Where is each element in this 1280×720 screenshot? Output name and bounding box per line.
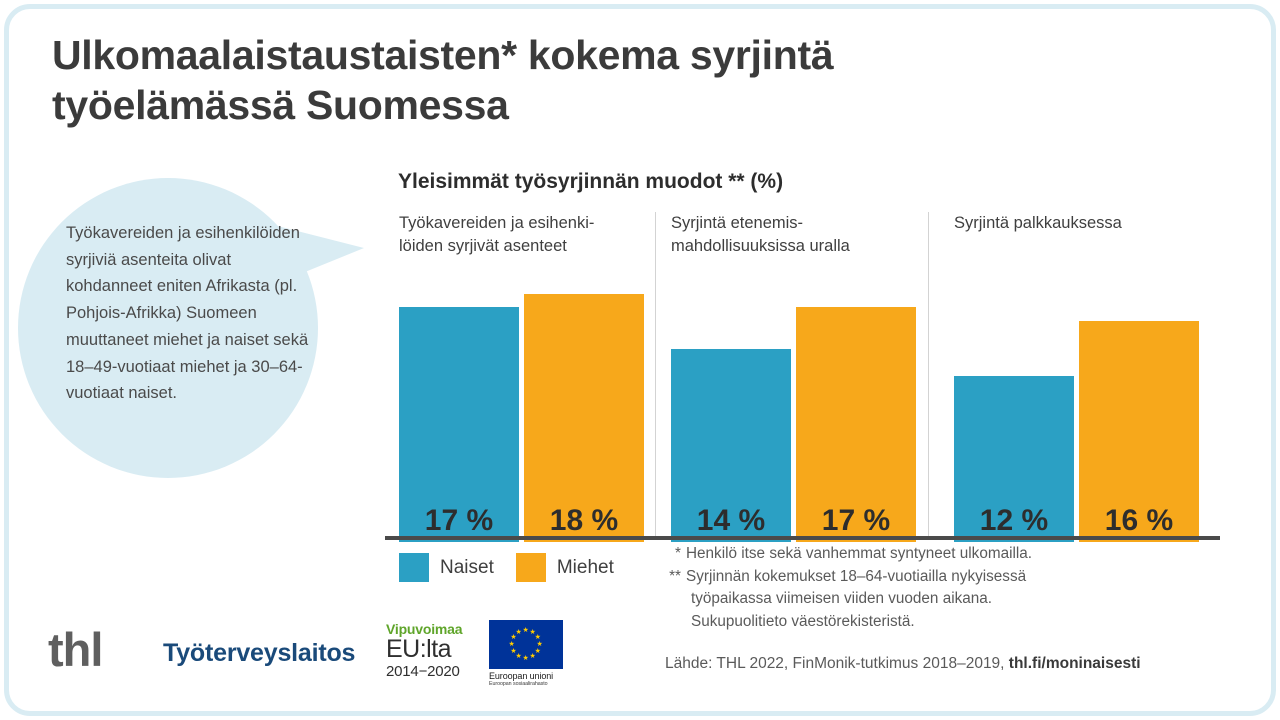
eu-flag-logo: ★★★★★★★★★★★★ Euroopan unioni Euroopan so…	[489, 620, 563, 687]
callout-bubble-text: Työkavereiden ja esihenkilöiden syrjiviä…	[66, 220, 314, 407]
footnote-text-2-cont-2: Sukupuolitieto väestörekisteristä.	[662, 611, 1222, 634]
legend-label-miehet: Miehet	[557, 557, 614, 579]
footnote-mark-2: **	[662, 566, 686, 589]
vipuvoimaa-eulta-logo: Vipuvoimaa EU:lta 2014−2020	[386, 622, 462, 679]
footnote-single-asterisk: * Henkilö itse sekä vanhemmat syntyneet …	[662, 543, 1222, 566]
page-title-line-2: työelämässä Suomessa	[52, 80, 1052, 130]
group-separator-2	[928, 212, 929, 537]
eu-flag-caption-primary: Euroopan unioni	[489, 671, 563, 681]
legend-label-naiset: Naiset	[440, 557, 494, 579]
eu-star-icon: ★	[523, 655, 529, 662]
legend-item-naiset: Naiset	[399, 553, 494, 582]
page-title: Ulkomaalaistaustaisten* kokema syrjintä …	[52, 30, 1052, 130]
source-line: Lähde: THL 2022, FinMonik-tutkimus 2018–…	[665, 655, 1141, 673]
bar-group-3: Syrjintä palkkauksessa12 %16 %	[930, 212, 1180, 542]
footnote-text-2-cont-1: työpaikassa viimeisen viiden vuoden aika…	[662, 588, 1222, 611]
group-separator-1	[655, 212, 656, 537]
source-prefix: Lähde: THL 2022, FinMonik-tutkimus 2018–…	[665, 655, 1009, 672]
bar-group-2: Syrjintä etenemis-mahdollisuuksissa ural…	[657, 212, 907, 542]
bar-value-label: 17 %	[796, 504, 916, 538]
footnote-text-2: Syrjinnän kokemukset 18–64-vuotiailla ny…	[686, 566, 1026, 589]
chart-baseline-axis	[385, 536, 1220, 540]
eu-star-icon: ★	[509, 641, 515, 648]
bar-value-label: 12 %	[954, 504, 1074, 538]
eu-star-icon: ★	[537, 641, 543, 648]
eu-star-icon: ★	[523, 627, 529, 634]
bar-group-label-2: Syrjintä etenemis-mahdollisuuksissa ural…	[671, 212, 850, 259]
vipuvoimaa-text: Vipuvoimaa	[386, 622, 462, 636]
eu-flag-caption-secondary: Euroopan sosiaalirahasto	[489, 681, 563, 687]
footnote-double-asterisk: ** Syrjinnän kokemukset 18–64-vuotiailla…	[662, 566, 1222, 589]
legend-swatch-naiset	[399, 553, 429, 582]
bar-naiset-1: 17 %	[399, 307, 519, 542]
bar-miehet-1: 18 %	[524, 294, 644, 542]
bar-value-label: 14 %	[671, 504, 791, 538]
eu-star-icon: ★	[535, 634, 541, 641]
legend-swatch-miehet	[516, 553, 546, 582]
bar-group-bars-2: 14 %17 %	[671, 272, 916, 542]
bar-naiset-3: 12 %	[954, 376, 1074, 542]
eu-star-icon: ★	[516, 629, 522, 636]
bar-chart: Työkavereiden ja esihenki-löiden syrjivä…	[385, 212, 1220, 542]
footnote-mark-1: *	[662, 543, 686, 566]
bar-group-label-3: Syrjintä palkkauksessa	[954, 212, 1122, 235]
eu-funding-years: 2014−2020	[386, 664, 462, 679]
eu-star-icon: ★	[510, 648, 516, 655]
bar-value-label: 17 %	[399, 504, 519, 538]
bar-value-label: 16 %	[1079, 504, 1199, 538]
footnote-text-1: Henkilö itse sekä vanhemmat syntyneet ul…	[686, 543, 1032, 566]
bar-group-bars-3: 12 %16 %	[954, 272, 1199, 542]
source-link[interactable]: thl.fi/moninaisesti	[1009, 655, 1141, 672]
bar-group-label-1: Työkavereiden ja esihenki-löiden syrjivä…	[399, 212, 594, 259]
infographic-page: Ulkomaalaistaustaisten* kokema syrjintä …	[0, 0, 1280, 720]
bar-group-bars-1: 17 %18 %	[399, 272, 644, 542]
bar-naiset-2: 14 %	[671, 349, 791, 542]
bar-group-1: Työkavereiden ja esihenki-löiden syrjivä…	[385, 212, 635, 542]
eu-star-icon: ★	[530, 653, 536, 660]
thl-logo: thl	[48, 626, 102, 673]
eulta-text: EU:lta	[386, 637, 462, 663]
chart-legend: Naiset Miehet	[399, 553, 614, 582]
legend-item-miehet: Miehet	[516, 553, 614, 582]
bar-miehet-3: 16 %	[1079, 321, 1199, 542]
tyoterveyslaitos-logo: Työterveyslaitos	[163, 639, 355, 668]
footnotes: * Henkilö itse sekä vanhemmat syntyneet …	[662, 543, 1222, 634]
bar-value-label: 18 %	[524, 504, 644, 538]
page-title-line-1: Ulkomaalaistaustaisten* kokema syrjintä	[52, 30, 1052, 80]
callout-bubble: Työkavereiden ja esihenkilöiden syrjiviä…	[18, 178, 418, 496]
eu-flag-icon: ★★★★★★★★★★★★	[489, 620, 563, 669]
chart-title: Yleisimmät työsyrjinnän muodot ** (%)	[398, 170, 783, 194]
bar-miehet-2: 17 %	[796, 307, 916, 542]
